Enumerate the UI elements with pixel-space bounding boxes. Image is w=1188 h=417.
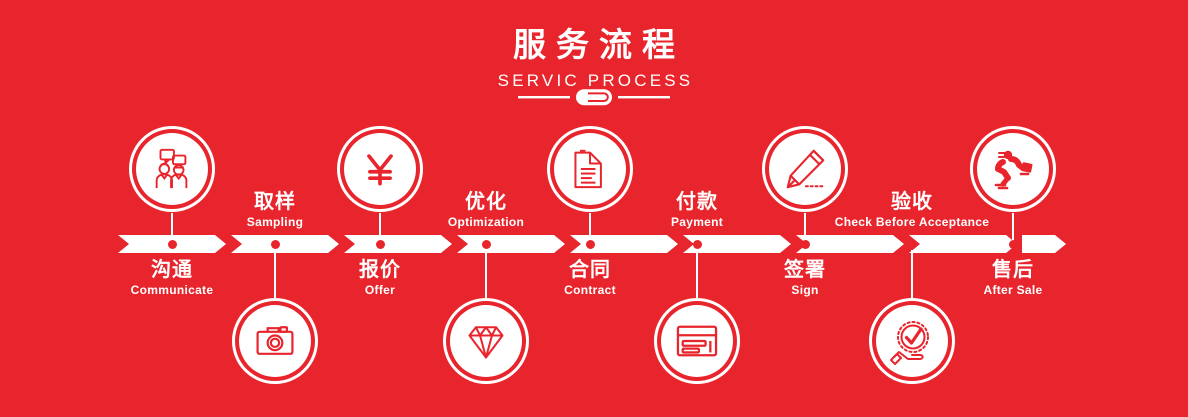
step-label-contract: 合同 Contract (470, 259, 710, 297)
checkmark-hand-icon (876, 305, 948, 377)
timeline-dot (482, 240, 491, 249)
timeline-dot (693, 240, 702, 249)
connector-line (1012, 213, 1014, 241)
step-label-en: After Sale (893, 284, 1133, 297)
timeline-dot (271, 240, 280, 249)
process-infographic: 服务流程 SERVIC PROCESS (0, 0, 1188, 417)
step-label-en: Offer (260, 284, 500, 297)
paperclip-divider-icon (518, 88, 670, 111)
timeline-dot (376, 240, 385, 249)
step-label-en: Sampling (155, 216, 395, 229)
running-person-briefcase-icon (977, 133, 1049, 205)
timeline-dot (908, 240, 917, 249)
step-label-en: Communicate (52, 284, 292, 297)
step-label-cn: 沟通 (52, 259, 292, 280)
step-label-en: Optimization (366, 216, 606, 229)
step-label-offer: 报价 Offer (260, 259, 500, 297)
step-label-cn: 合同 (470, 259, 710, 280)
timeline-dot (801, 240, 810, 249)
page-title-en: SERVIC PROCESS (0, 72, 1188, 89)
icon-circle-optimization[interactable] (443, 298, 529, 384)
timeline-dot (1009, 240, 1018, 249)
step-label-cn: 报价 (260, 259, 500, 280)
header: 服务流程 SERVIC PROCESS (0, 0, 1188, 89)
step-label-en: Sign (685, 284, 925, 297)
timeline-dot (586, 240, 595, 249)
step-label-cn: 签署 (685, 259, 925, 280)
step-label-en: Check Before Acceptance (792, 216, 1032, 229)
step-label-cn: 售后 (893, 259, 1133, 280)
credit-card-icon (661, 305, 733, 377)
camera-icon (239, 305, 311, 377)
step-label-sign: 签署 Sign (685, 259, 925, 297)
icon-circle-sampling[interactable] (232, 298, 318, 384)
page-title-cn: 服务流程 (0, 28, 1188, 61)
icon-circle-check-before-acceptance[interactable] (869, 298, 955, 384)
step-label-communicate: 沟通 Communicate (52, 259, 292, 297)
step-label-en: Contract (470, 284, 710, 297)
diamond-icon (450, 305, 522, 377)
icon-circle-after-sale[interactable] (970, 126, 1056, 212)
icon-circle-payment[interactable] (654, 298, 740, 384)
step-label-en: Payment (577, 216, 817, 229)
step-label-after-sale: 售后 After Sale (893, 259, 1133, 297)
timeline-dot (168, 240, 177, 249)
